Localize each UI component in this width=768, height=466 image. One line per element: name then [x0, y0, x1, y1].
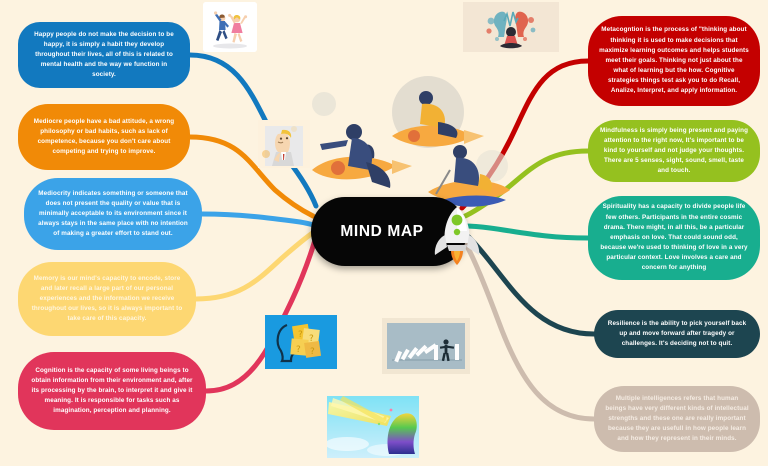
jumping-people-image [203, 2, 257, 52]
topic-spirituality-text: Spirituality has a capacity to divide pe… [599, 202, 749, 273]
domino-stop-image [382, 318, 470, 374]
rocket-icon [429, 203, 485, 265]
topic-happiness-text: Happy people do not make the decision to… [29, 30, 179, 81]
topic-mindfulness[interactable]: Mindfulness is simply being present and … [588, 120, 760, 182]
topic-mediocrity[interactable]: Mediocrity indicates something or someon… [24, 178, 202, 250]
topic-resilience[interactable]: Resilience is the ability to pick yourse… [594, 310, 760, 358]
topic-mindfulness-text: Mindfulness is simply being present and … [599, 126, 749, 177]
thinking-man-image [258, 120, 310, 168]
svg-text:?: ? [298, 330, 303, 340]
topic-mediocre-people[interactable]: Mediocre people have a bad attitude, a w… [18, 104, 190, 170]
colorful-head-light-image [327, 396, 419, 458]
topic-cognition-text: Cognition is the capacity of some living… [29, 366, 195, 417]
topic-spirituality[interactable]: Spirituality has a capacity to divide pe… [588, 196, 760, 280]
topic-cognition[interactable]: Cognition is the capacity of some living… [18, 352, 206, 430]
topic-resilience-text: Resilience is the ability to pick yourse… [605, 319, 749, 350]
svg-text:?: ? [296, 345, 301, 355]
head-sticky-notes-image: ? ? ? ? [265, 315, 337, 369]
topic-memory[interactable]: Memory is our mind's capacity to encode,… [18, 262, 196, 336]
topic-happiness[interactable]: Happy people do not make the decision to… [18, 22, 190, 88]
topic-metacognition-text: Metacogntion is the process of "thinking… [599, 25, 749, 96]
meditation-brain-image [463, 2, 559, 52]
topic-memory-text: Memory is our mind's capacity to encode,… [29, 274, 185, 325]
central-node[interactable]: MIND MAP [311, 197, 467, 266]
topic-multiple-intelligences[interactable]: Multiple intelligences refers that human… [594, 386, 760, 452]
topic-mediocrity-text: Mediocrity indicates something or someon… [35, 189, 191, 240]
rocket-riders-image [296, 74, 512, 214]
topic-multiple-intelligences-text: Multiple intelligences refers that human… [605, 394, 749, 445]
mind-map-canvas: ? ? ? ? [0, 0, 768, 466]
svg-text:?: ? [310, 347, 315, 357]
topic-mediocre-people-text: Mediocre people have a bad attitude, a w… [29, 117, 179, 158]
svg-text:?: ? [309, 334, 314, 344]
central-node-label: MIND MAP [340, 223, 423, 241]
topic-metacognition[interactable]: Metacogntion is the process of "thinking… [588, 16, 760, 106]
